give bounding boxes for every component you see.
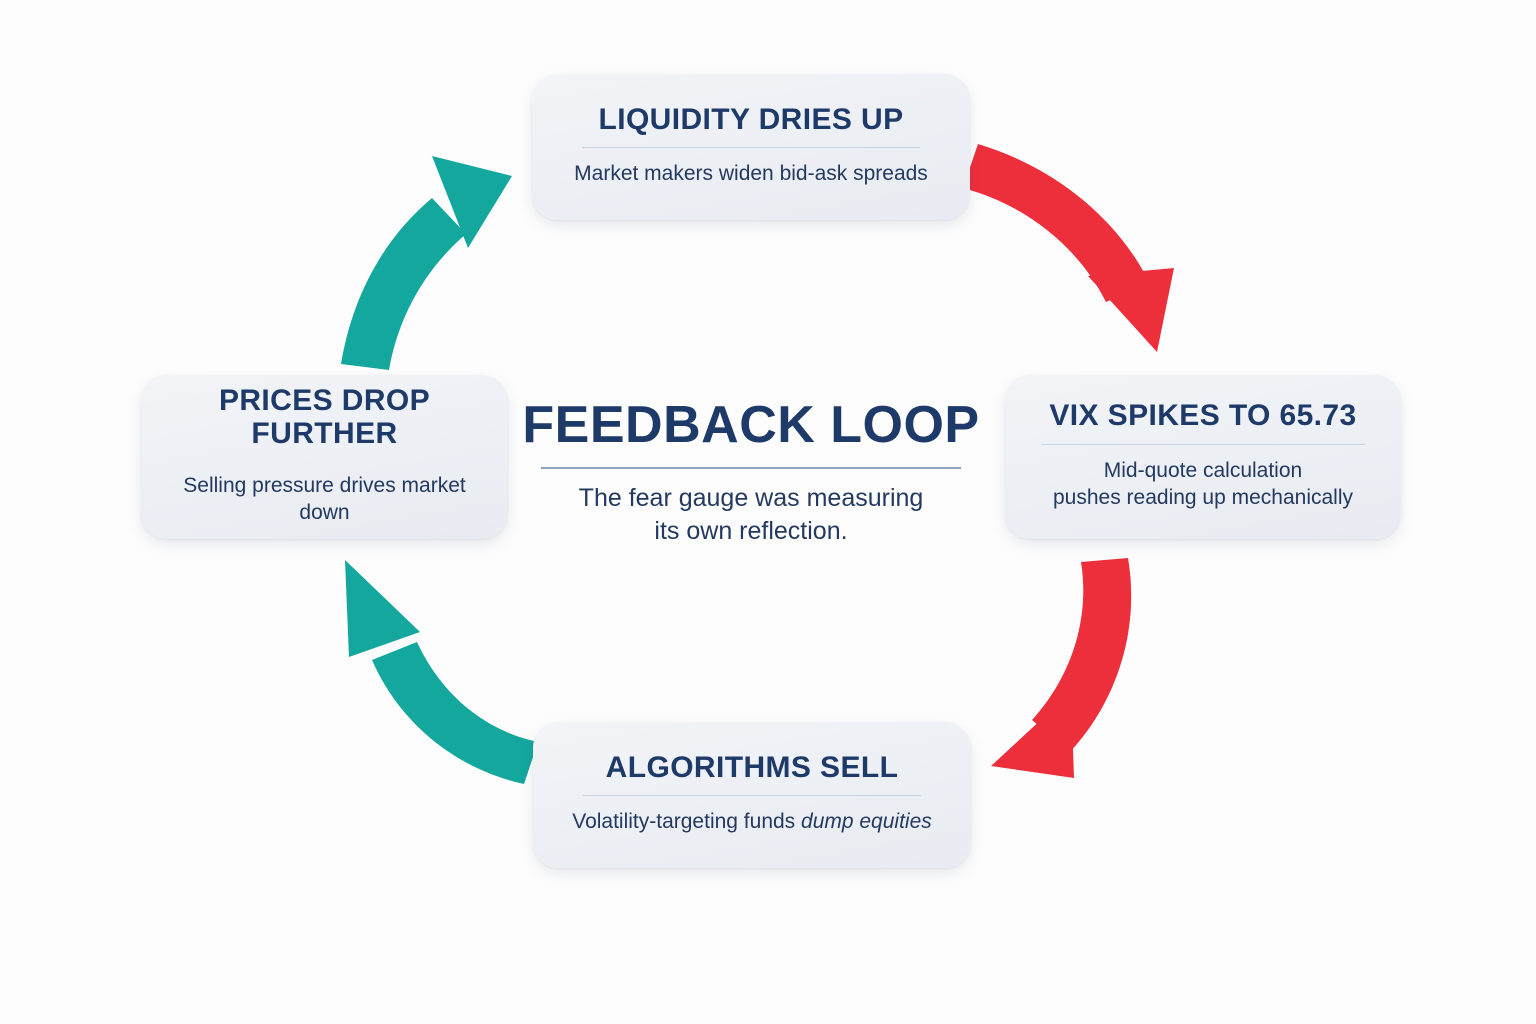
card-divider (1041, 444, 1365, 445)
card-divider (582, 147, 921, 148)
node-card-algorithms-sell[interactable]: ALGORITHMS SELL Volatility-targeting fun… (533, 722, 971, 868)
center-divider (541, 467, 961, 469)
node-title-line2: FURTHER (251, 417, 397, 450)
node-card-vix-spikes[interactable]: VIX SPIKES TO 65.73 Mid-quote calculatio… (1005, 375, 1401, 539)
node-subtitle-prefix: Volatility-targeting funds (572, 810, 801, 833)
arrow-top-to-right-icon (963, 144, 1174, 352)
node-title: LIQUIDITY DRIES UP (598, 103, 903, 137)
center-label-block: FEEDBACK LOOP The fear gauge was measuri… (506, 398, 996, 548)
diagram-subtitle: The fear gauge was measuring its own ref… (506, 482, 996, 548)
diagram-subtitle-line1: The fear gauge was measuring (579, 484, 924, 512)
node-subtitle: Market makers widen bid-ask spreads (574, 160, 928, 187)
node-subtitle: Selling pressure drives market down (163, 472, 486, 527)
arrow-right-to-bottom-icon (991, 558, 1131, 778)
node-card-prices-drop-further[interactable]: PRICES DROP FURTHER Selling pressure dri… (141, 375, 508, 539)
node-subtitle: Mid-quote calculation pushes reading up … (1053, 457, 1353, 512)
arrow-left-to-top-icon (341, 156, 512, 370)
node-subtitle-line2: pushes reading up mechanically (1053, 486, 1353, 509)
diagram-subtitle-line2: its own reflection. (654, 517, 847, 545)
arrow-bottom-to-left-icon (345, 560, 538, 784)
diagram-title: FEEDBACK LOOP (506, 398, 996, 453)
node-title-line1: PRICES DROP (219, 384, 430, 417)
node-subtitle: Volatility-targeting funds dump equities (572, 808, 932, 835)
node-title: ALGORITHMS SELL (606, 751, 899, 785)
card-divider (583, 795, 922, 796)
node-subtitle-line1: Mid-quote calculation (1104, 459, 1302, 482)
node-title: PRICES DROP FURTHER (219, 384, 430, 451)
node-subtitle-emphasis: dump equities (801, 810, 932, 833)
feedback-loop-diagram: LIQUIDITY DRIES UP Market makers widen b… (0, 0, 1536, 1024)
node-card-liquidity-dries-up[interactable]: LIQUIDITY DRIES UP Market makers widen b… (532, 74, 970, 220)
node-title: VIX SPIKES TO 65.73 (1049, 399, 1356, 433)
